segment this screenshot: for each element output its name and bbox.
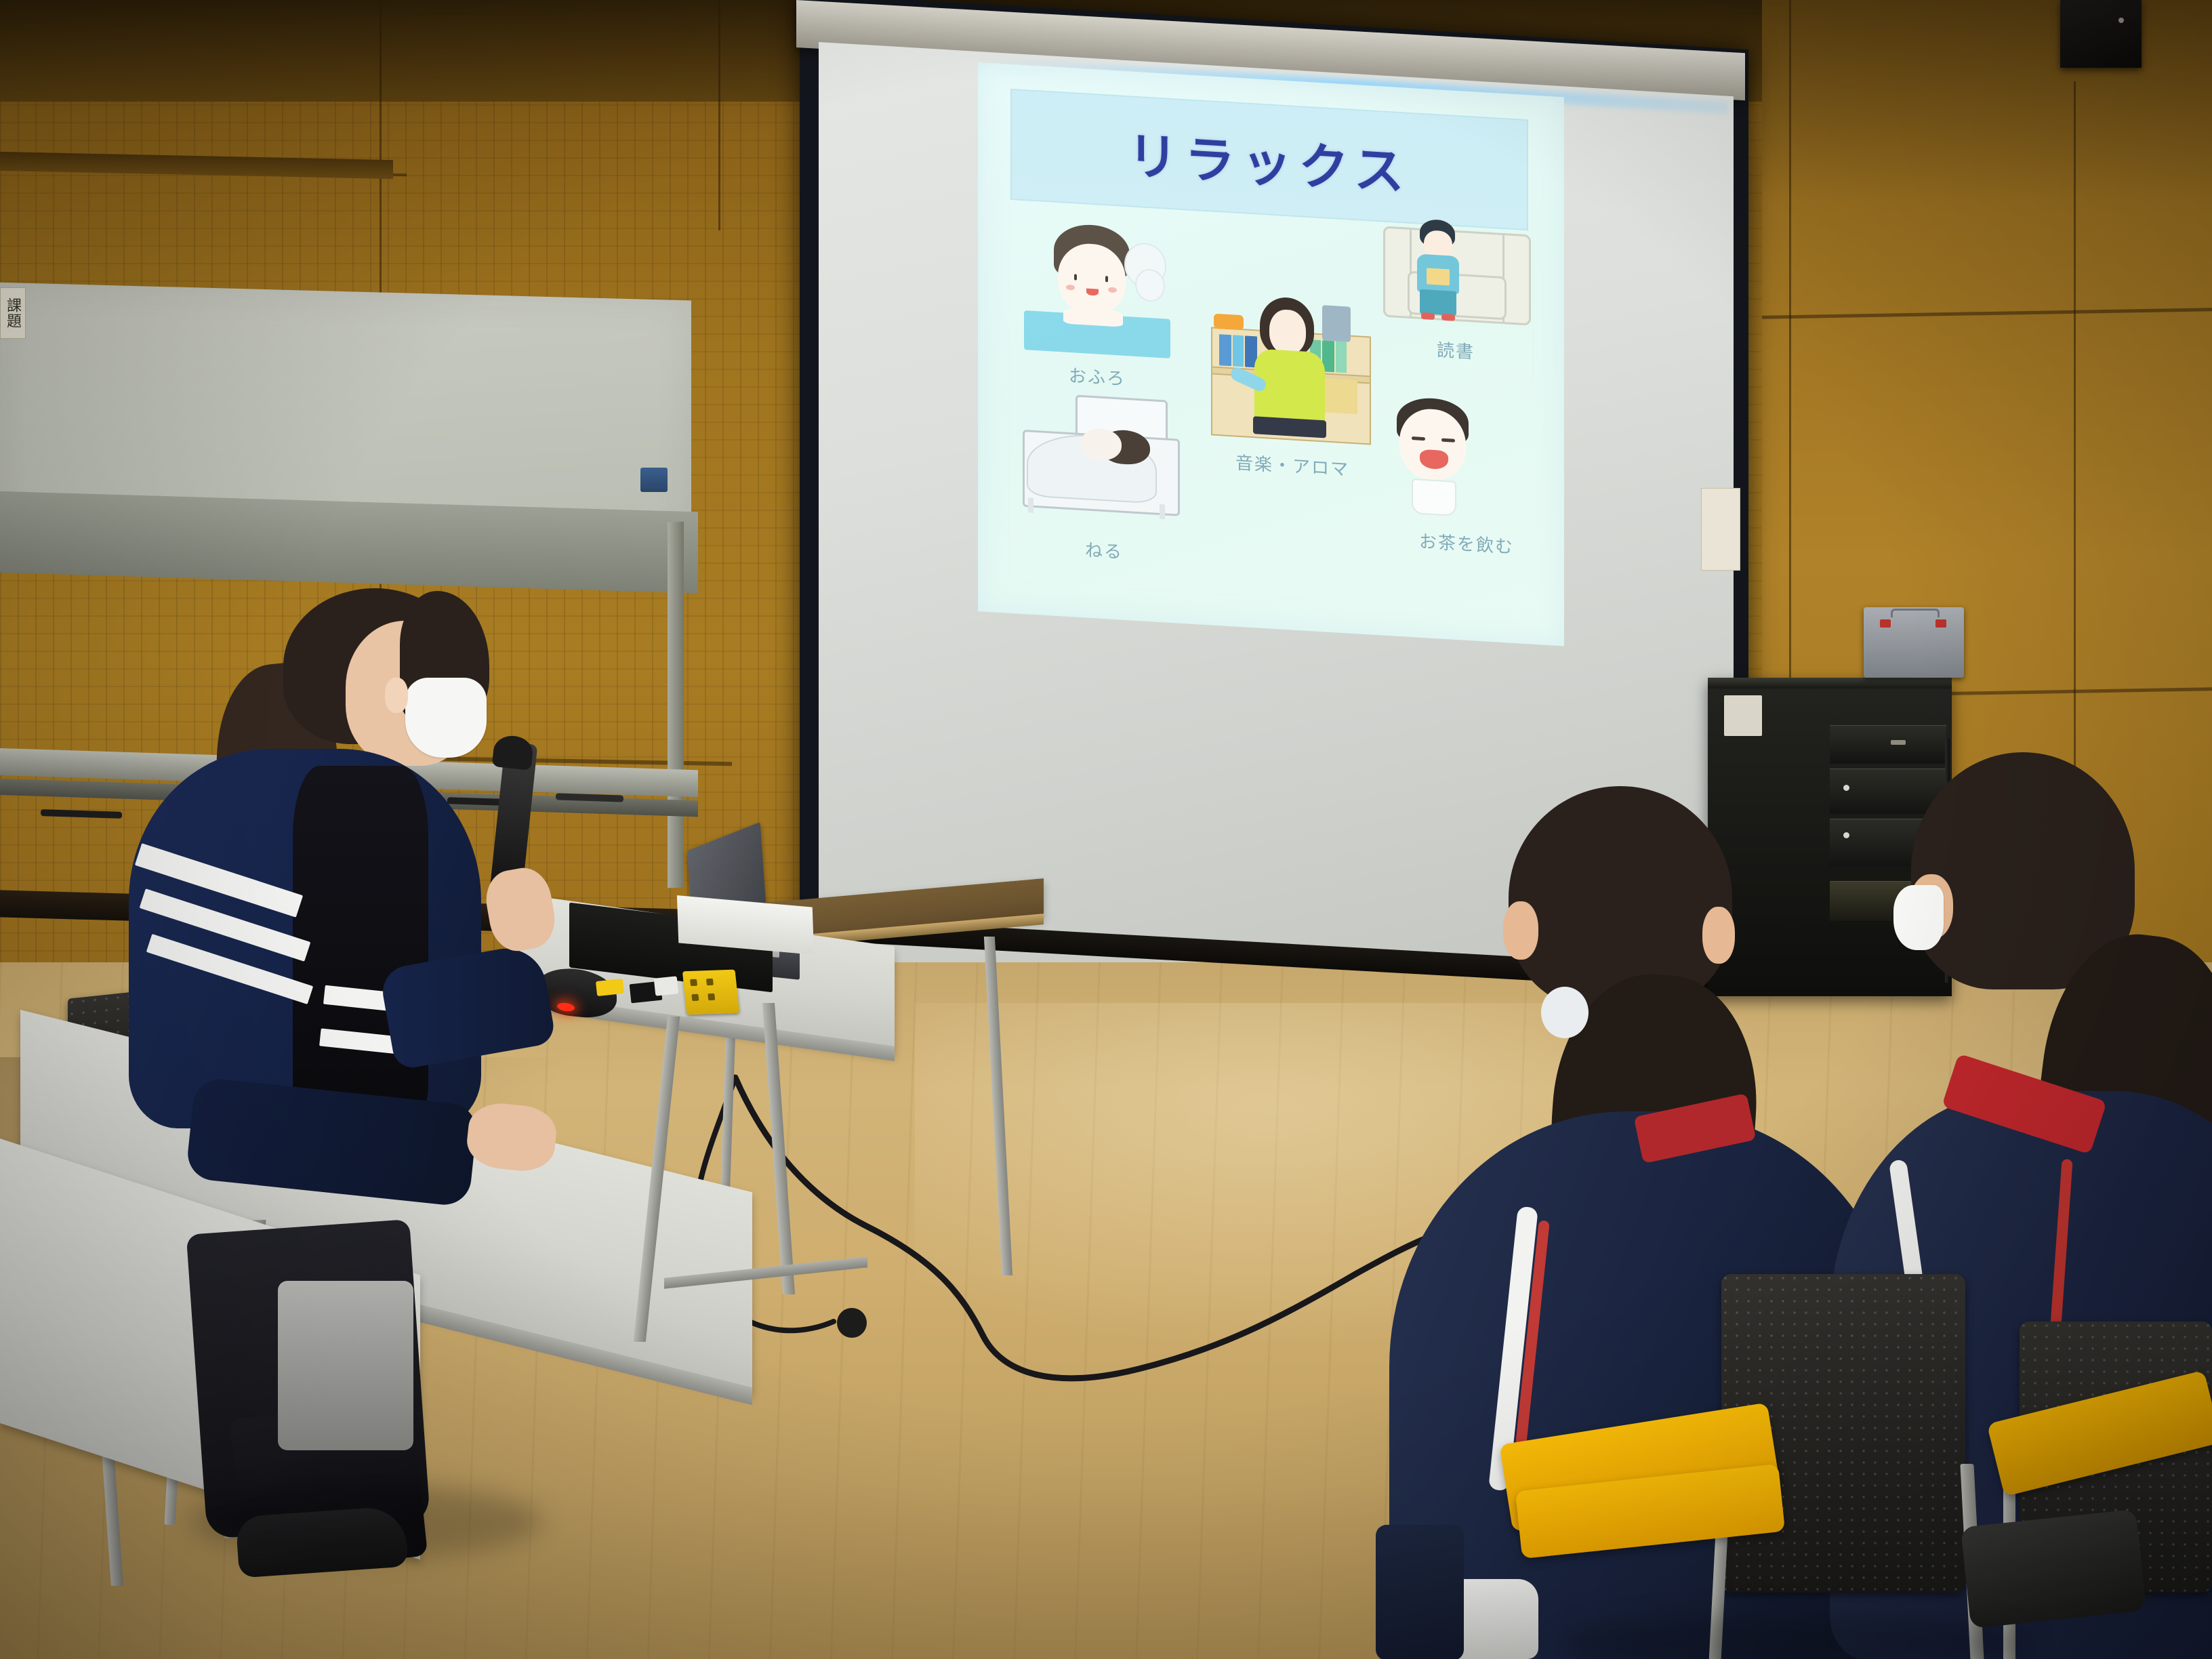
whiteboard-frame-right <box>668 522 684 888</box>
rack-top-shelf <box>1708 678 1952 689</box>
slide-item-sleep: ねる <box>1016 388 1192 575</box>
student-left-ear <box>1702 907 1735 964</box>
slide-item-music: 音楽・アロマ <box>1202 286 1383 487</box>
student-left-ear <box>1503 901 1538 960</box>
wall-notice <box>1701 488 1740 571</box>
slide-item-reading: 読書 <box>1378 209 1534 375</box>
student-right-face-mask <box>1893 885 1944 950</box>
table-caster <box>837 1308 867 1338</box>
wall-seam <box>718 0 720 230</box>
chair-frame-right <box>1961 1509 2146 1629</box>
slide-item-tea: お茶を飲む <box>1385 393 1540 565</box>
rack-display <box>1891 740 1906 745</box>
speaker-led <box>2118 18 2124 23</box>
case-latch <box>1880 619 1891 628</box>
student-left-hair <box>1509 786 1732 1010</box>
case-handle <box>1891 609 1940 617</box>
presenter-face-mask <box>405 678 487 758</box>
slide-caption-tea: お茶を飲む <box>1389 526 1544 560</box>
student-leg <box>1376 1525 1464 1659</box>
cable-adapter <box>654 976 679 996</box>
bag-under-table <box>278 1281 413 1450</box>
microphone-head <box>492 734 535 771</box>
slide-item-bath: おふろ <box>1016 216 1179 395</box>
equipment-carry-case <box>1864 607 1964 678</box>
projected-slide: リラックス おふろ <box>978 62 1564 646</box>
cable-connector <box>596 979 624 996</box>
slide-caption-bath: おふろ <box>1016 359 1179 393</box>
rack-label-tag <box>1724 695 1762 736</box>
presenter <box>244 576 596 1525</box>
case-latch <box>1935 619 1946 628</box>
presenter-shadow <box>190 1484 542 1559</box>
slide-title-band: リラックス <box>1010 89 1528 230</box>
presenter-hand-mouse <box>464 1100 558 1174</box>
whiteboard-eraser <box>640 468 668 492</box>
whiteboard-side-label: 課題 <box>0 287 26 339</box>
classroom-photo-scene: 課題 リラックス おふろ <box>0 0 2212 1659</box>
slide-title: リラックス <box>1128 115 1411 205</box>
slide-caption-sleep: ねる <box>1016 532 1192 567</box>
presenter-ear <box>385 678 408 713</box>
yellow-power-strip[interactable] <box>682 970 739 1015</box>
slide-caption-music: 音楽・アロマ <box>1202 447 1383 483</box>
slide-caption-reading: 読書 <box>1378 333 1534 367</box>
wall-speaker-icon <box>2060 0 2142 68</box>
hair-tie <box>1541 987 1589 1038</box>
